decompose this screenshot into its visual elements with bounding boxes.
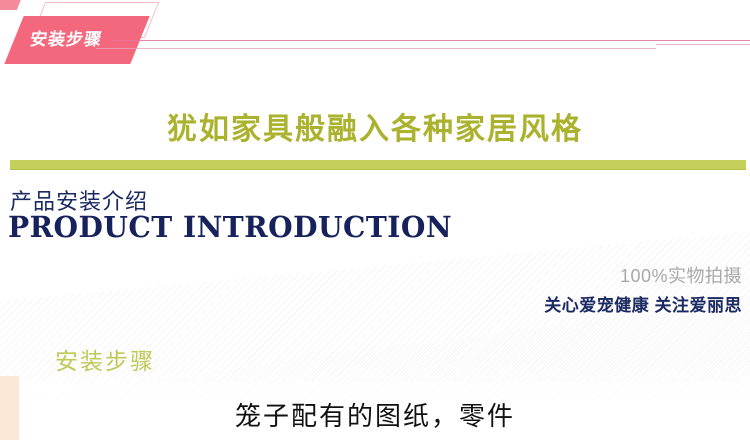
pink-divider-upper [112,40,750,41]
photo-authenticity-note: 100%实物拍摄 [620,262,742,288]
product-introduction-page: 安装步骤 犹如家具般融入各种家居风格 产品安装介绍 PRODUCT INTROD… [0,0,750,440]
page-headline: 犹如家具般融入各种家居风格 [0,104,750,148]
brand-slogan: 关心爱宠健康 关注爱丽思 [544,291,742,316]
banner-corner-accent [0,0,23,10]
section-subtitle: 安装步骤 [55,342,155,376]
section-caption: 笼子配有的图纸，零件 [0,396,750,433]
intro-title-en: PRODUCT INTRODUCTION [8,210,452,244]
pink-divider-right-segment [656,44,750,45]
installation-steps-banner: 安装步骤 [0,0,200,72]
pink-divider-lower [96,48,656,49]
green-section-bar [10,160,746,170]
